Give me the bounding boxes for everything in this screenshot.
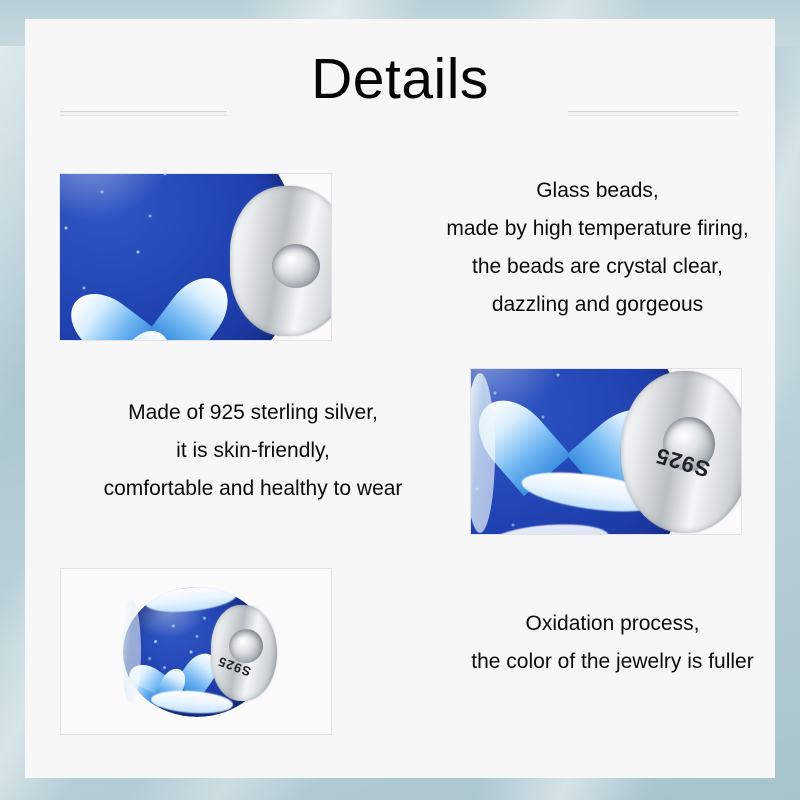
text-line: Oxidation process, [425, 605, 800, 643]
product-photo-3[interactable]: S925 [60, 568, 332, 735]
text-block-oxidation: Oxidation process, the color of the jewe… [425, 605, 800, 681]
section-header: Details [25, 43, 775, 123]
text-line: Glass beads, [420, 172, 775, 210]
text-line: dazzling and gorgeous [420, 286, 775, 324]
core-hole [272, 244, 320, 288]
text-line: it is skin-friendly, [53, 432, 453, 470]
product-photo-2[interactable]: S925 [470, 368, 742, 535]
bead-macro-hearts-image [60, 174, 331, 340]
text-block-sterling-silver: Made of 925 sterling silver, it is skin-… [53, 394, 453, 508]
glass-rim-highlight [121, 599, 141, 703]
page-title: Details [25, 43, 775, 115]
text-block-glass-beads: Glass beads, made by high temperature fi… [420, 172, 775, 324]
bead-macro-s925-stamp-image: S925 [471, 369, 741, 534]
bead-full-view-image: S925 [61, 569, 331, 734]
heart-motif-large [507, 368, 635, 479]
header-rule-right [568, 111, 738, 116]
text-line: Made of 925 sterling silver, [53, 394, 453, 432]
product-detail-page: Details [0, 0, 800, 800]
text-line: comfortable and healthy to wear [53, 470, 453, 508]
text-line: the beads are crystal clear, [420, 248, 775, 286]
text-line: made by high temperature firing, [420, 210, 775, 248]
text-line: the color of the jewelry is fuller [425, 643, 800, 681]
content-card: Details [25, 19, 775, 778]
product-photo-1[interactable] [59, 173, 332, 341]
